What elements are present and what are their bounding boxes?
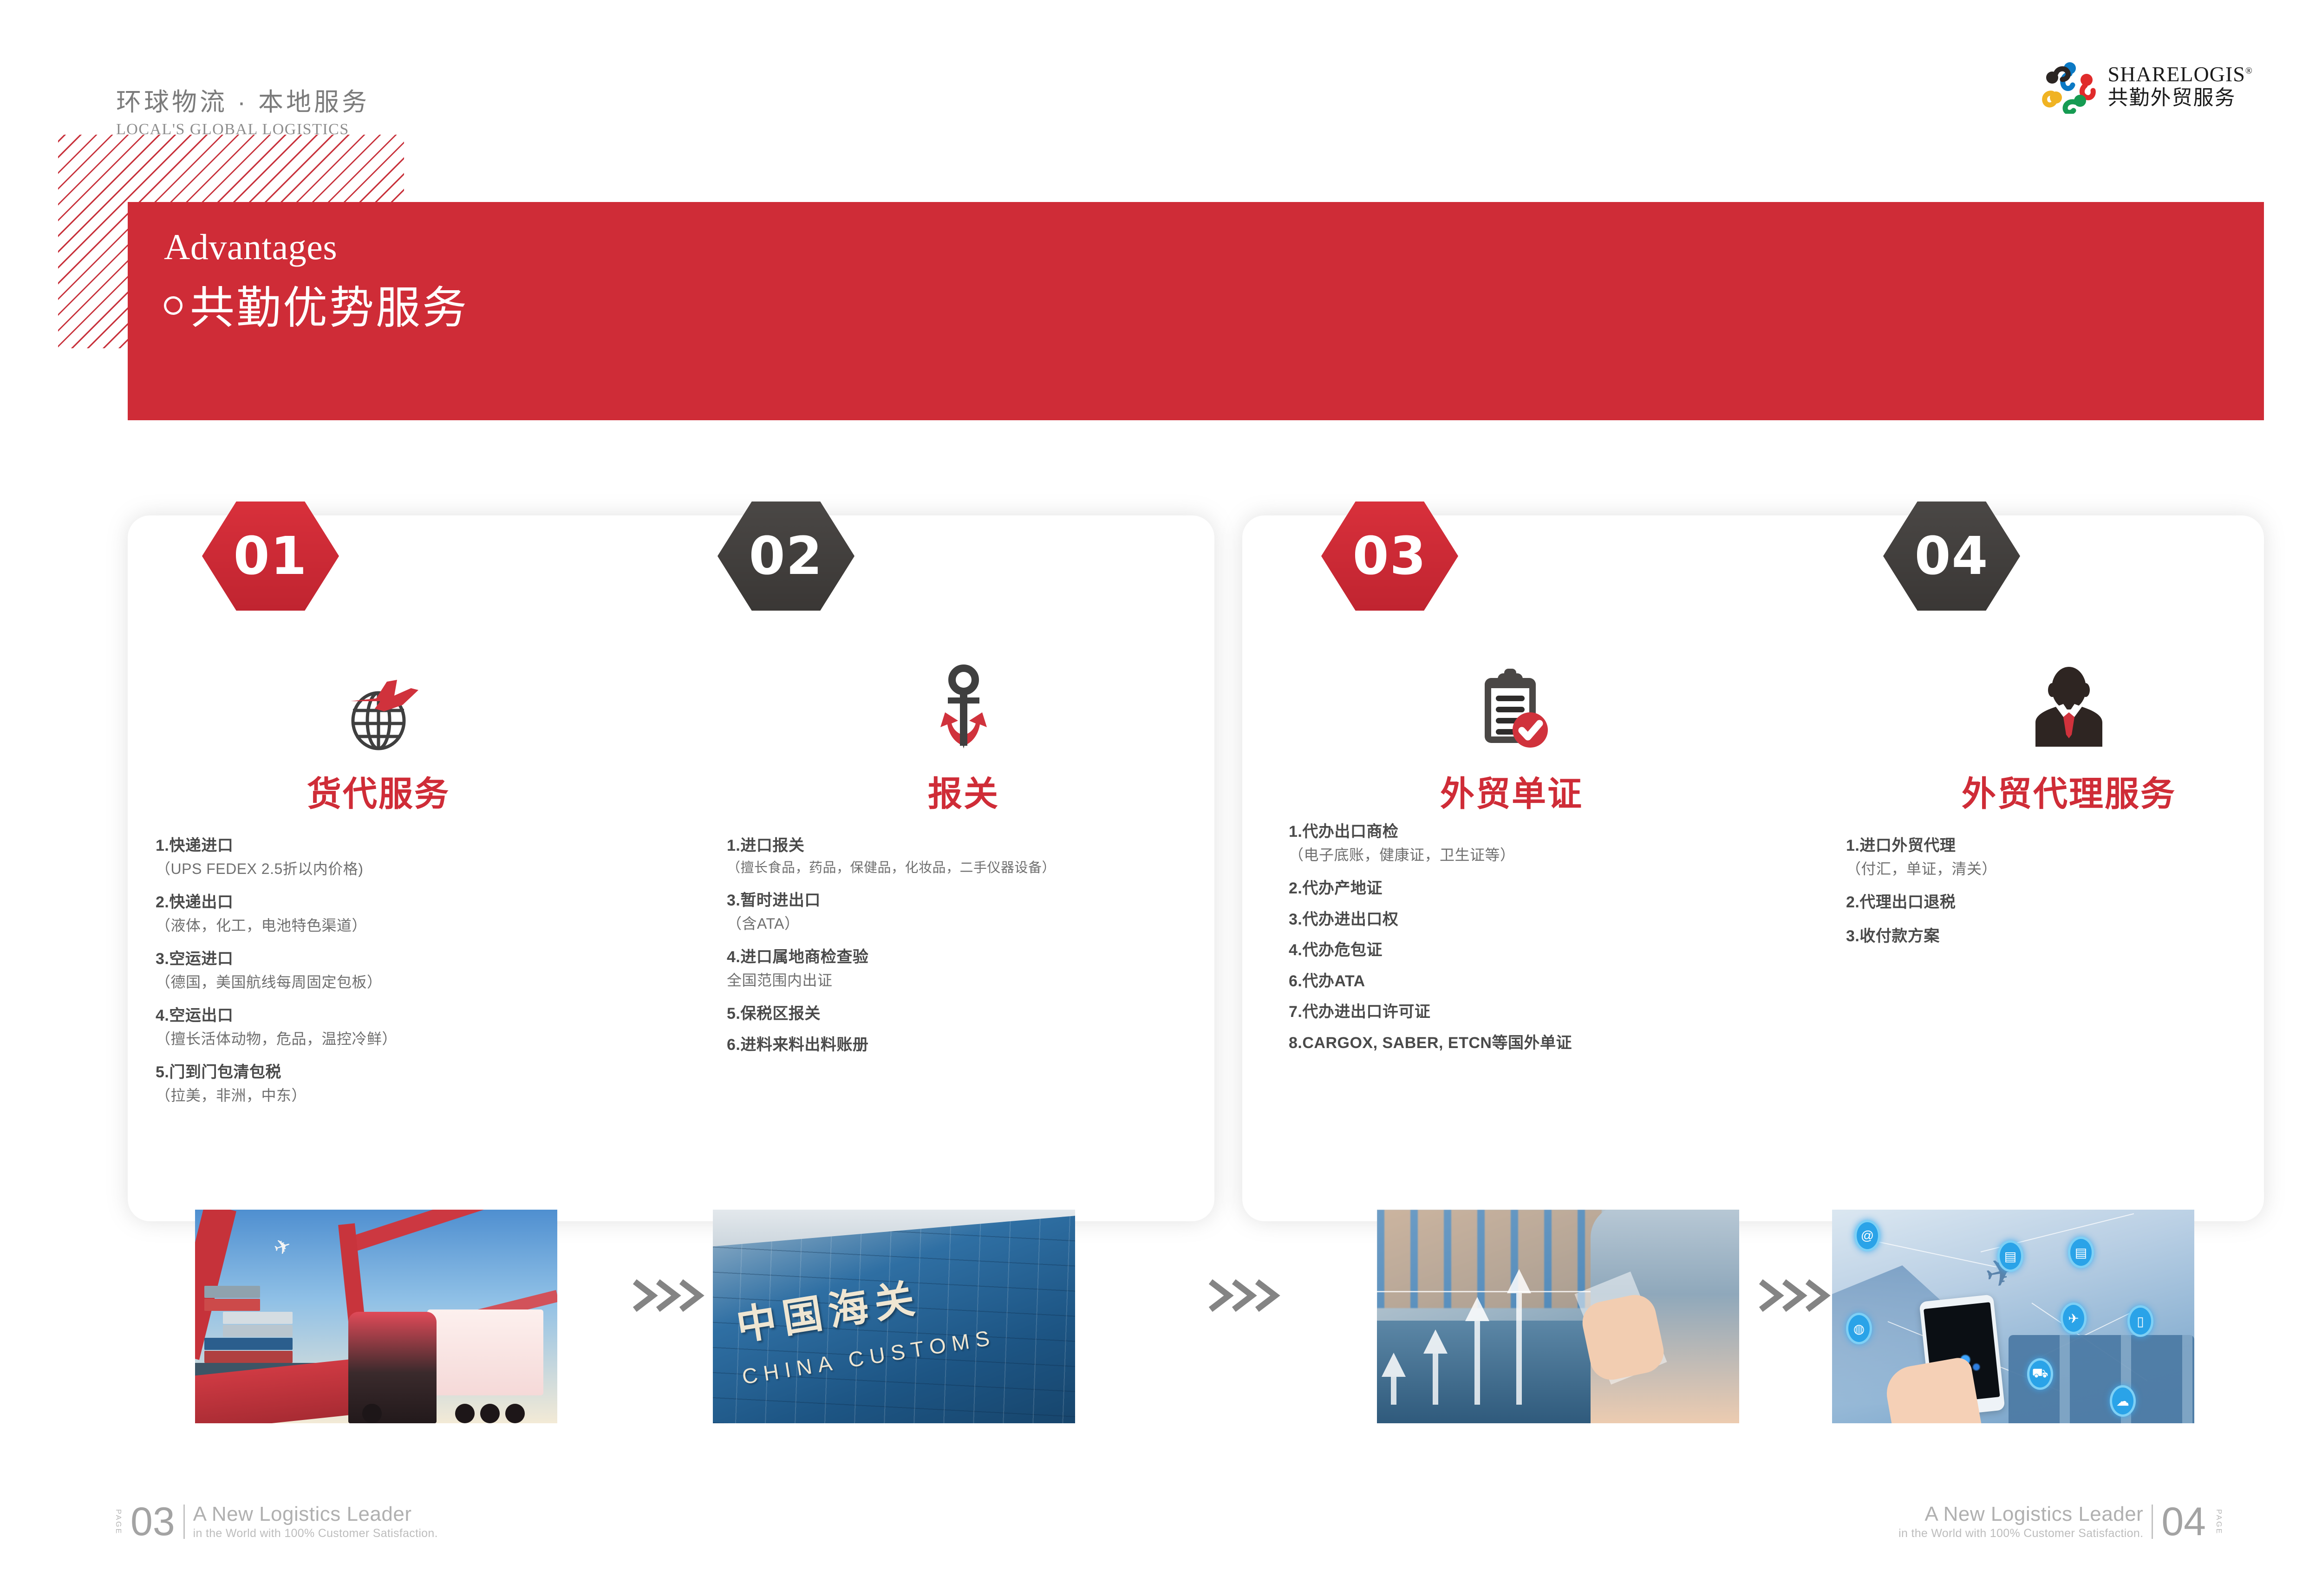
footer-tagline-left-line1: A New Logistics Leader [193, 1504, 438, 1525]
list-item-main: 6.进料来料出料账册 [727, 1035, 1200, 1055]
footer-divider-right [2152, 1505, 2153, 1539]
company-logo: SHARELOGIS® 共勤外贸服务 [2042, 58, 2253, 114]
list-item: 3.收付款方案 [1846, 926, 2292, 946]
basket-node-icon: ▤ [1997, 1240, 2023, 1272]
footer-page-number-right: 04 [2161, 1505, 2206, 1539]
list-item-main: 6.代办ATA [1289, 971, 1735, 991]
list-item: 2.代理出口退税 [1846, 892, 2292, 912]
list-item: 8.CARGOX, SABER, ETCN等国外单证 [1289, 1033, 1735, 1053]
photo-china-customs-building: 中国海关 CHINA CUSTOMS [713, 1210, 1075, 1423]
footer-tagline-right-line2: in the World with 100% Customer Satisfac… [1898, 1527, 2143, 1540]
chevron-separator-2 [1207, 1277, 1286, 1314]
section-title-cn: 共勤优势服务 [190, 272, 469, 336]
chevron-separator-1 [632, 1277, 711, 1314]
globe-plane-icon [128, 659, 629, 752]
cloud-node-icon: ☁ [2110, 1385, 2136, 1417]
list-item: 1.进口外贸代理 （付汇，单证，清关） [1846, 836, 2292, 879]
list-item-sub: 全国范围内出证 [727, 971, 1200, 990]
footer-tagline-right-line1: A New Logistics Leader [1925, 1504, 2144, 1525]
list-item-main: 5.门到门包清包税 [156, 1062, 601, 1082]
footer-page-label-right: PAGE [2214, 1509, 2223, 1535]
list-item: 1.进口报关 （擅长食品，药品，保健品，化妆品，二手仪器设备） [727, 836, 1200, 877]
list-item-sub: （擅长食品，药品，保健品，化妆品，二手仪器设备） [727, 860, 1200, 877]
sharelogis-people-circle-icon [2042, 58, 2098, 114]
step-number-04: 04 [1915, 526, 1989, 586]
advantage-column-1: 货代服务 1.快递进口 （UPS FEDEX 2.5折以内价格) 2.快递出口 … [128, 515, 629, 1221]
column-title-4: 外贸代理服务 [1818, 766, 2320, 816]
footer-divider-left [183, 1505, 185, 1539]
section-title-en: Advantages [164, 226, 2264, 268]
list-item: 2.代办产地证 [1289, 879, 1735, 899]
list-item: 6.进料来料出料账册 [727, 1035, 1200, 1055]
logo-wordmark: SHARELOGIS [2108, 62, 2245, 86]
column-title-3: 外贸单证 [1261, 766, 1762, 816]
column-list-4: 1.进口外贸代理 （付汇，单证，清关） 2.代理出口退税 3.收付款方案 [1818, 836, 2320, 960]
plane-node-icon: ✈ [2061, 1303, 2087, 1334]
chevron-separator-3 [1758, 1277, 1837, 1314]
list-item: 2.快递出口 （液体，化工，电池特色渠道） [156, 892, 601, 935]
registered-mark-icon: ® [2245, 66, 2253, 76]
list-item: 4.空运出口 （擅长活体动物，危品，温控冷鲜） [156, 1006, 601, 1049]
box-node-icon: ▤ [2068, 1237, 2094, 1268]
list-item-main: 8.CARGOX, SABER, ETCN等国外单证 [1289, 1033, 1735, 1053]
list-item: 4.进口属地商检查验 全国范围内出证 [727, 947, 1200, 990]
list-item-main: 1.进口外贸代理 [1846, 836, 2292, 856]
list-item: 4.代办危包证 [1289, 940, 1735, 960]
column-title-2: 报关 [713, 766, 1214, 816]
column-list-2: 1.进口报关 （擅长食品，药品，保健品，化妆品，二手仪器设备） 3.暂时进出口 … [713, 836, 1214, 1066]
footer-page-number-left: 03 [130, 1505, 175, 1539]
list-item: 3.代办进出口权 [1289, 910, 1735, 930]
list-item-main: 2.代理出口退税 [1846, 892, 2292, 912]
step-number-03: 03 [1353, 526, 1427, 586]
advantage-column-2: 报关 1.进口报关 （擅长食品，药品，保健品，化妆品，二手仪器设备） 3.暂时进… [713, 515, 1214, 1221]
list-item-main: 3.代办进出口权 [1289, 910, 1735, 930]
photo-inspector-data-chart [1377, 1210, 1739, 1423]
list-item: 5.门到门包清包税 （拉美，非洲，中东） [156, 1062, 601, 1105]
circle-bullet-icon [164, 296, 183, 315]
anchor-icon [713, 659, 1214, 752]
step-number-02: 02 [749, 526, 823, 586]
footer-page-label-left: PAGE [114, 1509, 122, 1535]
list-item-sub: （电子底账，健康证，卫生证等） [1289, 846, 1735, 865]
list-item-main: 4.进口属地商检查验 [727, 947, 1200, 967]
list-item-sub: （含ATA） [727, 914, 1200, 934]
section-title-cn-row: 共勤优势服务 [164, 272, 2264, 336]
photo-port-crane-truck: ✈ [195, 1210, 557, 1423]
clipboard-check-icon [1261, 659, 1762, 752]
list-item-main: 2.快递出口 [156, 892, 601, 912]
list-item: 3.暂时进出口 （含ATA） [727, 891, 1200, 933]
section-title-banner: Advantages 共勤优势服务 [128, 202, 2264, 420]
list-item-sub: （液体，化工，电池特色渠道） [156, 916, 601, 936]
advantage-column-3: 外贸单证 1.代办出口商检 （电子底账，健康证，卫生证等） 2.代办产地证 3.… [1261, 515, 1762, 1221]
cart-node-icon: ⛟ [2027, 1358, 2053, 1390]
list-item-main: 3.暂时进出口 [727, 891, 1200, 911]
list-item-sub: （擅长活体动物，危品，温控冷鲜） [156, 1029, 601, 1049]
phone-node-icon: ▯ [2127, 1305, 2153, 1337]
list-item: 1.代办出口商检 （电子底账，健康证，卫生证等） [1289, 822, 1735, 865]
list-item-main: 4.空运出口 [156, 1006, 601, 1026]
footer-right: A New Logistics Leader in the World with… [1898, 1504, 2223, 1540]
bulb-node-icon: ◍ [1846, 1313, 1872, 1344]
advantage-cards: 01 02 03 04 货代服务 1.快递进口 [128, 515, 2264, 1221]
footer-tagline-left-line2: in the World with 100% Customer Satisfac… [193, 1527, 438, 1540]
list-item: 6.代办ATA [1289, 971, 1735, 991]
at-sign-node-icon: @ [1854, 1220, 1880, 1251]
list-item-main: 1.代办出口商检 [1289, 822, 1735, 842]
list-item: 1.快递进口 （UPS FEDEX 2.5折以内价格) [156, 836, 601, 879]
list-item-sub: （拉美，非洲，中东） [156, 1086, 601, 1106]
brand-header: 环球物流 · 本地服务 LOCAL'S GLOBAL LOGISTICS [116, 81, 534, 138]
column-list-1: 1.快递进口 （UPS FEDEX 2.5折以内价格) 2.快递出口 （液体，化… [128, 836, 629, 1119]
list-item-main: 1.快递进口 [156, 836, 601, 856]
photo-digital-logistics-tablet: ✈ @ ▤ ▤ ✈ ▯ ◍ ⛟ ☁ [1832, 1210, 2194, 1423]
list-item-main: 3.收付款方案 [1846, 926, 2292, 946]
column-title-1: 货代服务 [128, 766, 629, 816]
advantage-column-4: 外贸代理服务 1.进口外贸代理 （付汇，单证，清关） 2.代理出口退税 3.收付… [1818, 515, 2320, 1221]
footer-left: PAGE 03 A New Logistics Leader in the Wo… [114, 1504, 438, 1540]
list-item: 5.保税区报关 [727, 1004, 1200, 1024]
list-item-main: 4.代办危包证 [1289, 940, 1735, 960]
brand-name-cn: 环球物流 · 本地服务 [116, 81, 534, 118]
logo-text-cn: 共勤外贸服务 [2108, 88, 2253, 108]
list-item-sub: （德国，美国航线每周固定包板） [156, 973, 601, 992]
list-item-sub: （付汇，单证，清关） [1846, 860, 2292, 879]
list-item-sub: （UPS FEDEX 2.5折以内价格) [156, 860, 601, 879]
column-list-3: 1.代办出口商检 （电子底账，健康证，卫生证等） 2.代办产地证 3.代办进出口… [1261, 822, 1762, 1064]
list-item-main: 3.空运进口 [156, 949, 601, 969]
step-number-01: 01 [234, 526, 308, 586]
list-item-main: 5.保税区报关 [727, 1004, 1200, 1024]
logo-text-en: SHARELOGIS® [2108, 64, 2253, 85]
list-item: 3.空运进口 （德国，美国航线每周固定包板） [156, 949, 601, 992]
list-item-main: 1.进口报关 [727, 836, 1200, 856]
list-item-main: 2.代办产地证 [1289, 879, 1735, 899]
businessman-icon [1818, 659, 2320, 752]
list-item: 7.代办进出口许可证 [1289, 1002, 1735, 1022]
list-item-main: 7.代办进出口许可证 [1289, 1002, 1735, 1022]
